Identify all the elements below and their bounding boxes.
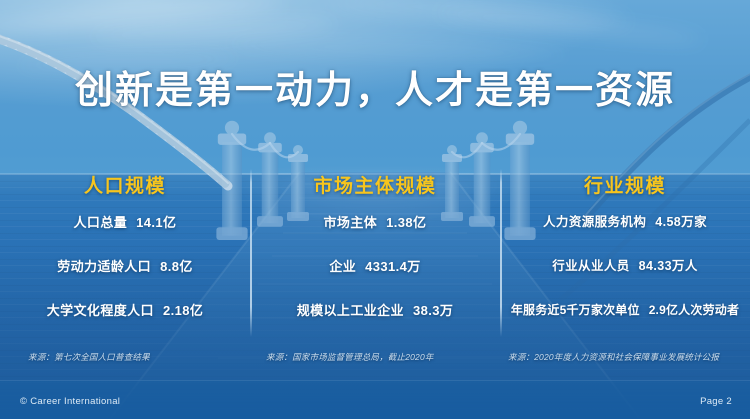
stat-row: 人力资源服务机构4.58万家 — [543, 214, 707, 231]
stat-label: 大学文化程度人口 — [47, 303, 154, 318]
stat-label: 年服务近5千万家次单位 — [511, 303, 640, 317]
stat-label: 行业从业人员 — [552, 259, 629, 273]
stat-label: 规模以上工业企业 — [297, 303, 404, 318]
stat-row: 劳动力适龄人口8.8亿 — [57, 258, 192, 275]
stat-row: 企业4331.4万 — [329, 258, 420, 275]
column-heading: 人口规模 — [84, 171, 166, 198]
stat-value: 14.1亿 — [136, 215, 176, 230]
stat-label: 人力资源服务机构 — [543, 215, 646, 229]
stat-value: 38.3万 — [413, 303, 453, 318]
stat-value: 84.33万人 — [639, 259, 698, 273]
stat-row: 规模以上工业企业38.3万 — [297, 302, 454, 319]
presentation-slide: 创新是第一动力，人才是第一资源 人口规模 人口总量14.1亿 劳动力适龄人口8.… — [0, 0, 750, 419]
stat-list: 人口总量14.1亿 劳动力适龄人口8.8亿 大学文化程度人口2.18亿 — [6, 214, 244, 346]
stats-column-population: 人口规模 人口总量14.1亿 劳动力适龄人口8.8亿 大学文化程度人口2.18亿… — [0, 160, 250, 365]
stats-column-industry: 行业规模 人力资源服务机构4.58万家 行业从业人员84.33万人 年服务近5千… — [500, 160, 750, 365]
column-heading: 行业规模 — [584, 171, 666, 198]
stat-label: 市场主体 — [324, 215, 378, 230]
stat-value: 2.18亿 — [163, 303, 203, 318]
slide-content: 创新是第一动力，人才是第一资源 人口规模 人口总量14.1亿 劳动力适龄人口8.… — [0, 0, 750, 419]
stat-row: 年服务近5千万家次单位2.9亿人次劳动者 — [511, 302, 739, 319]
stat-value: 2.9亿人次劳动者 — [649, 303, 739, 317]
slide-title: 创新是第一动力，人才是第一资源 — [0, 68, 750, 114]
copyright-label: © Career International — [20, 396, 120, 407]
page-number: Page 2 — [700, 396, 732, 407]
stat-label: 人口总量 — [74, 215, 128, 230]
stats-columns: 人口规模 人口总量14.1亿 劳动力适龄人口8.8亿 大学文化程度人口2.18亿… — [0, 160, 750, 365]
stat-value: 8.8亿 — [160, 259, 193, 274]
source-note: 来源：国家市场监督管理总局，截止2020年 — [266, 351, 434, 363]
stats-column-market-entities: 市场主体规模 市场主体1.38亿 企业4331.4万 规模以上工业企业38.3万… — [250, 160, 500, 365]
stat-label: 劳动力适龄人口 — [57, 259, 151, 274]
stat-label: 企业 — [329, 259, 356, 274]
stat-row: 大学文化程度人口2.18亿 — [47, 302, 204, 319]
column-heading: 市场主体规模 — [313, 171, 436, 198]
source-note: 来源：2020年度人力资源和社会保障事业发展统计公报 — [508, 351, 719, 363]
stat-row: 市场主体1.38亿 — [324, 214, 427, 231]
stat-row: 行业从业人员84.33万人 — [552, 258, 698, 275]
stat-list: 人力资源服务机构4.58万家 行业从业人员84.33万人 年服务近5千万家次单位… — [506, 214, 744, 346]
stat-value: 4331.4万 — [365, 259, 421, 274]
stat-value: 1.38亿 — [386, 215, 426, 230]
stat-row: 人口总量14.1亿 — [74, 214, 177, 231]
source-note: 来源：第七次全国人口普查结果 — [28, 351, 150, 363]
stat-list: 市场主体1.38亿 企业4331.4万 规模以上工业企业38.3万 — [256, 214, 494, 346]
stat-value: 4.58万家 — [655, 215, 707, 229]
